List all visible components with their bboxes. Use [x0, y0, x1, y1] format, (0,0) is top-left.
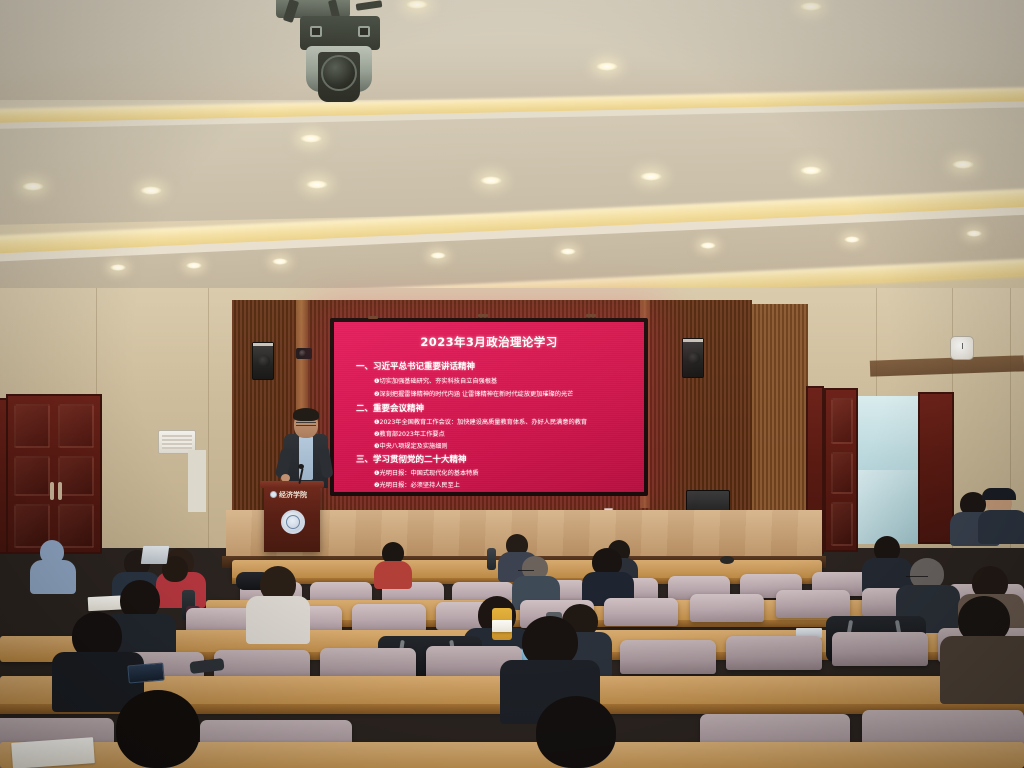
ceiling-downlight: [800, 166, 822, 175]
chair[interactable]: [832, 632, 928, 666]
door-panel: [14, 404, 50, 448]
phone[interactable]: [127, 662, 164, 683]
thermos: [487, 548, 496, 570]
speaker-cone: [688, 352, 700, 364]
ceiling-slab-upper: [0, 0, 1024, 100]
laptop[interactable]: [141, 546, 170, 564]
door-left[interactable]: [6, 394, 102, 554]
chair[interactable]: [776, 590, 850, 618]
ceiling-downlight: [952, 160, 974, 169]
rig-port: [310, 26, 322, 37]
chair[interactable]: [726, 636, 822, 670]
podium-emblem-large: [281, 510, 305, 534]
booklet[interactable]: [11, 737, 95, 768]
person-torso: [246, 596, 310, 644]
speaker-trim: [253, 343, 273, 346]
ceiling-downlight: [596, 62, 618, 71]
ceiling-downlight: [966, 230, 982, 237]
slide-list-item: ❶切实加强基础研究、夯实科技自立自强根基: [374, 376, 497, 385]
ceiling-downlight: [480, 176, 502, 185]
ceiling-downlight: [140, 186, 162, 195]
person-head: [116, 690, 200, 768]
wall-speaker-left: [252, 342, 274, 380]
speaker-cone: [258, 355, 270, 367]
ceiling-downlight: [640, 172, 662, 181]
slide-list-item: ❶2023年全国教育工作会议：加快建设高质量教育体系、办好人民满意的教育: [374, 417, 587, 426]
projector-lens-icon: [321, 55, 357, 91]
door-panel: [58, 504, 94, 548]
podium-emblem-inner: [286, 515, 300, 529]
ceiling-downlight: [560, 248, 576, 255]
slide-list-item: ❷教育部2023年工作要点: [374, 429, 445, 438]
door-panel: [58, 404, 94, 448]
chair[interactable]: [352, 604, 426, 632]
person-torso: [978, 510, 1024, 544]
daylight-glare: [856, 470, 918, 544]
door-panel: [14, 456, 50, 496]
chair[interactable]: [620, 640, 716, 674]
slide-list-item: ❷深刻把握雷锋精神的时代内涵 让雷锋精神在新时代绽放更加璀璨的光芒: [374, 389, 573, 398]
door-panel: [831, 452, 853, 494]
slide-list-item: ❷光明日报：必须坚持人民至上: [374, 480, 460, 489]
speaker-trim: [683, 339, 703, 342]
slide-section-heading: 三、学习贯彻党的二十大精神: [356, 453, 467, 465]
cup: [720, 556, 734, 564]
door-right-open-leaf[interactable]: [824, 388, 858, 552]
person-head: [536, 696, 616, 768]
door-right-far-leaf[interactable]: [918, 392, 954, 544]
screen-mount-mark: [478, 314, 488, 317]
wall-ac-backplate: [188, 450, 206, 512]
door-handle[interactable]: [58, 482, 62, 500]
slide-title: 2023年3月政治理论学习: [334, 334, 644, 350]
wall-speaker-right: [682, 338, 704, 378]
led-screen[interactable]: 2023年3月政治理论学习 一、习近平总书记重要讲话精神 ❶切实加强基础研究、夯…: [334, 322, 644, 492]
door-panel: [58, 456, 94, 496]
screen-mount-mark: [368, 316, 378, 319]
slat-wall-right: [752, 304, 808, 512]
rig-port: [358, 26, 370, 37]
ceiling-downlight: [844, 236, 860, 243]
chair[interactable]: [604, 598, 678, 626]
chair[interactable]: [690, 594, 764, 622]
person-glasses-icon: [906, 576, 928, 579]
presenter-hair: [293, 408, 319, 421]
ceiling-downlight: [110, 264, 126, 271]
cup-label: [492, 620, 512, 632]
slide-section-heading: 二、重要会议精神: [356, 402, 424, 414]
ceiling-downlight: [406, 0, 428, 9]
podium-top-surface: [260, 481, 324, 488]
door-left-secondary[interactable]: [0, 398, 8, 554]
ceiling-downlight: [430, 252, 446, 259]
slide-list-item: ❶光明日报：中国式现代化的基本特质: [374, 468, 479, 477]
ceiling-downlight: [272, 258, 288, 265]
microphone-head: [298, 464, 304, 469]
podium-logo-icon: [270, 491, 277, 498]
screen-mount-mark: [586, 314, 596, 317]
slide-section-heading: 一、习近平总书记重要讲话精神: [356, 360, 475, 372]
person-glasses-icon: [518, 570, 534, 573]
lecture-hall-photo: 2023年3月政治理论学习 一、习近平总书记重要讲话精神 ❶切实加强基础研究、夯…: [0, 0, 1024, 768]
door-handle[interactable]: [50, 482, 54, 500]
ceiling-downlight: [306, 180, 328, 189]
door-panel: [831, 398, 853, 444]
presenter-glasses-icon: [296, 422, 316, 426]
door-panel: [831, 502, 853, 546]
wall-camera-icon: [296, 348, 312, 359]
ceiling-downlight: [22, 182, 44, 191]
slide-list-item: ❸中央八项规定及实施细则: [374, 441, 448, 450]
ceiling-downlight: [186, 262, 202, 269]
person-torso: [940, 636, 1024, 704]
ceiling-downlight: [800, 2, 822, 11]
person-torso: [30, 560, 76, 594]
podium-label: 经济学院: [279, 490, 307, 500]
wall-seam: [208, 288, 209, 548]
person-torso: [374, 561, 412, 589]
cap-icon: [982, 488, 1016, 500]
wall-clock-icon: [950, 336, 974, 360]
ceiling-downlight: [300, 134, 322, 143]
ceiling-downlight: [700, 242, 716, 249]
